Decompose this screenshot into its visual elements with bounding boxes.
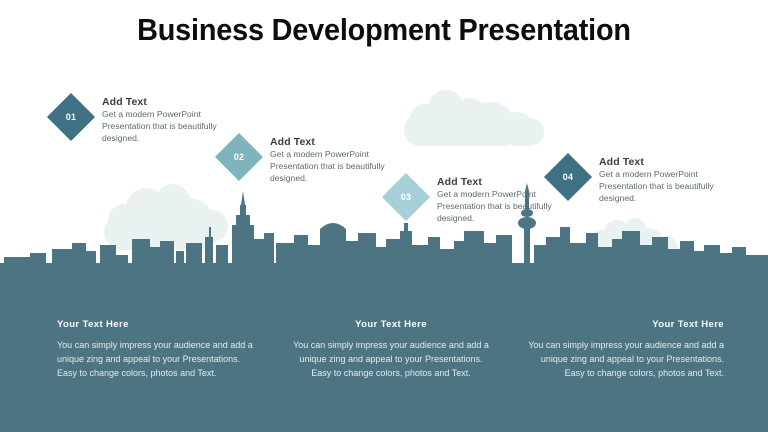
step-body-04: Get a modern PowerPoint Presentation tha… <box>599 169 734 205</box>
step-body-01: Get a modern PowerPoint Presentation tha… <box>102 109 237 145</box>
step-number-04: 04 <box>551 160 585 194</box>
panel-column-1[interactable]: Your Text Here You can simply impress yo… <box>57 319 257 381</box>
panel-column-1-body: You can simply impress your audience and… <box>57 339 257 381</box>
step-heading-01: Add Text <box>102 96 237 108</box>
step-text-block-02: Add Text Get a modern PowerPoint Present… <box>270 136 405 185</box>
panel-column-3-body: You can simply impress your audience and… <box>524 339 724 381</box>
page-title: Business Development Presentation <box>27 12 741 48</box>
step-text-block-01: Add Text Get a modern PowerPoint Present… <box>102 96 237 145</box>
step-heading-04: Add Text <box>599 156 734 168</box>
panel-column-2-heading: Your Text Here <box>291 319 491 330</box>
step-body-02: Get a modern PowerPoint Presentation tha… <box>270 149 405 185</box>
step-number-02: 02 <box>222 140 256 174</box>
step-diamond-04: 04 <box>544 153 592 201</box>
step-diamond-01: 01 <box>47 93 95 141</box>
panel-column-3-heading: Your Text Here <box>524 319 724 330</box>
panel-column-3[interactable]: Your Text Here You can simply impress yo… <box>524 319 724 381</box>
panel-column-2-body: You can simply impress your audience and… <box>291 339 491 381</box>
bottom-panel: Your Text Here You can simply impress yo… <box>0 273 768 432</box>
slide-canvas: Business Development Presentation <box>0 0 768 432</box>
panel-column-2[interactable]: Your Text Here You can simply impress yo… <box>291 319 491 381</box>
step-number-03: 03 <box>389 180 423 214</box>
step-body-03: Get a modern PowerPoint Presentation tha… <box>437 189 572 225</box>
step-diamond-03: 03 <box>382 173 430 221</box>
step-diamond-02: 02 <box>215 133 263 181</box>
panel-column-1-heading: Your Text Here <box>57 319 257 330</box>
step-heading-02: Add Text <box>270 136 405 148</box>
step-text-block-04: Add Text Get a modern PowerPoint Present… <box>599 156 734 205</box>
cloud-shape-top-right <box>404 88 544 146</box>
step-number-01: 01 <box>54 100 88 134</box>
